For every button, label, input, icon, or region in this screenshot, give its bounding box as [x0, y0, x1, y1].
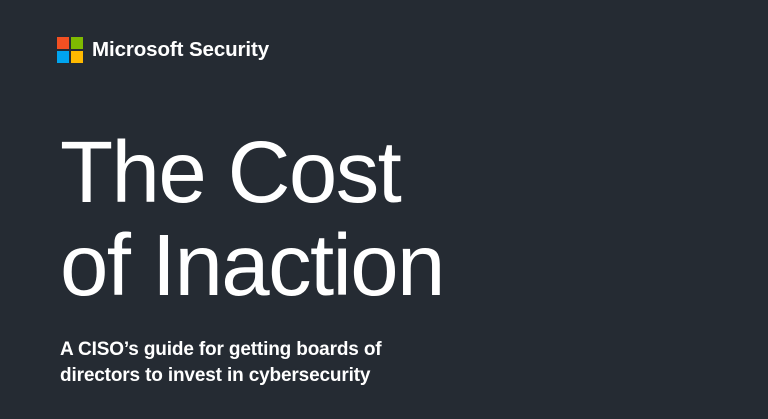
- page-subtitle-line-2: directors to invest in cybersecurity: [60, 363, 381, 389]
- page-title: The Cost of Inaction: [60, 126, 444, 312]
- page-title-line-1: The Cost: [60, 126, 444, 219]
- report-cover: Microsoft Security The Cost of Inaction …: [0, 0, 768, 419]
- microsoft-logo-yellow-tile: [71, 51, 83, 63]
- brand-lockup: Microsoft Security: [57, 37, 269, 63]
- page-subtitle: A CISO’s guide for getting boards of dir…: [60, 337, 381, 388]
- microsoft-logo-green-tile: [71, 37, 83, 49]
- page-title-line-2: of Inaction: [60, 219, 444, 312]
- microsoft-logo-red-tile: [57, 37, 69, 49]
- microsoft-logo-blue-tile: [57, 51, 69, 63]
- page-subtitle-line-1: A CISO’s guide for getting boards of: [60, 337, 381, 363]
- microsoft-logo-icon: [57, 37, 83, 63]
- brand-name: Microsoft Security: [92, 37, 269, 63]
